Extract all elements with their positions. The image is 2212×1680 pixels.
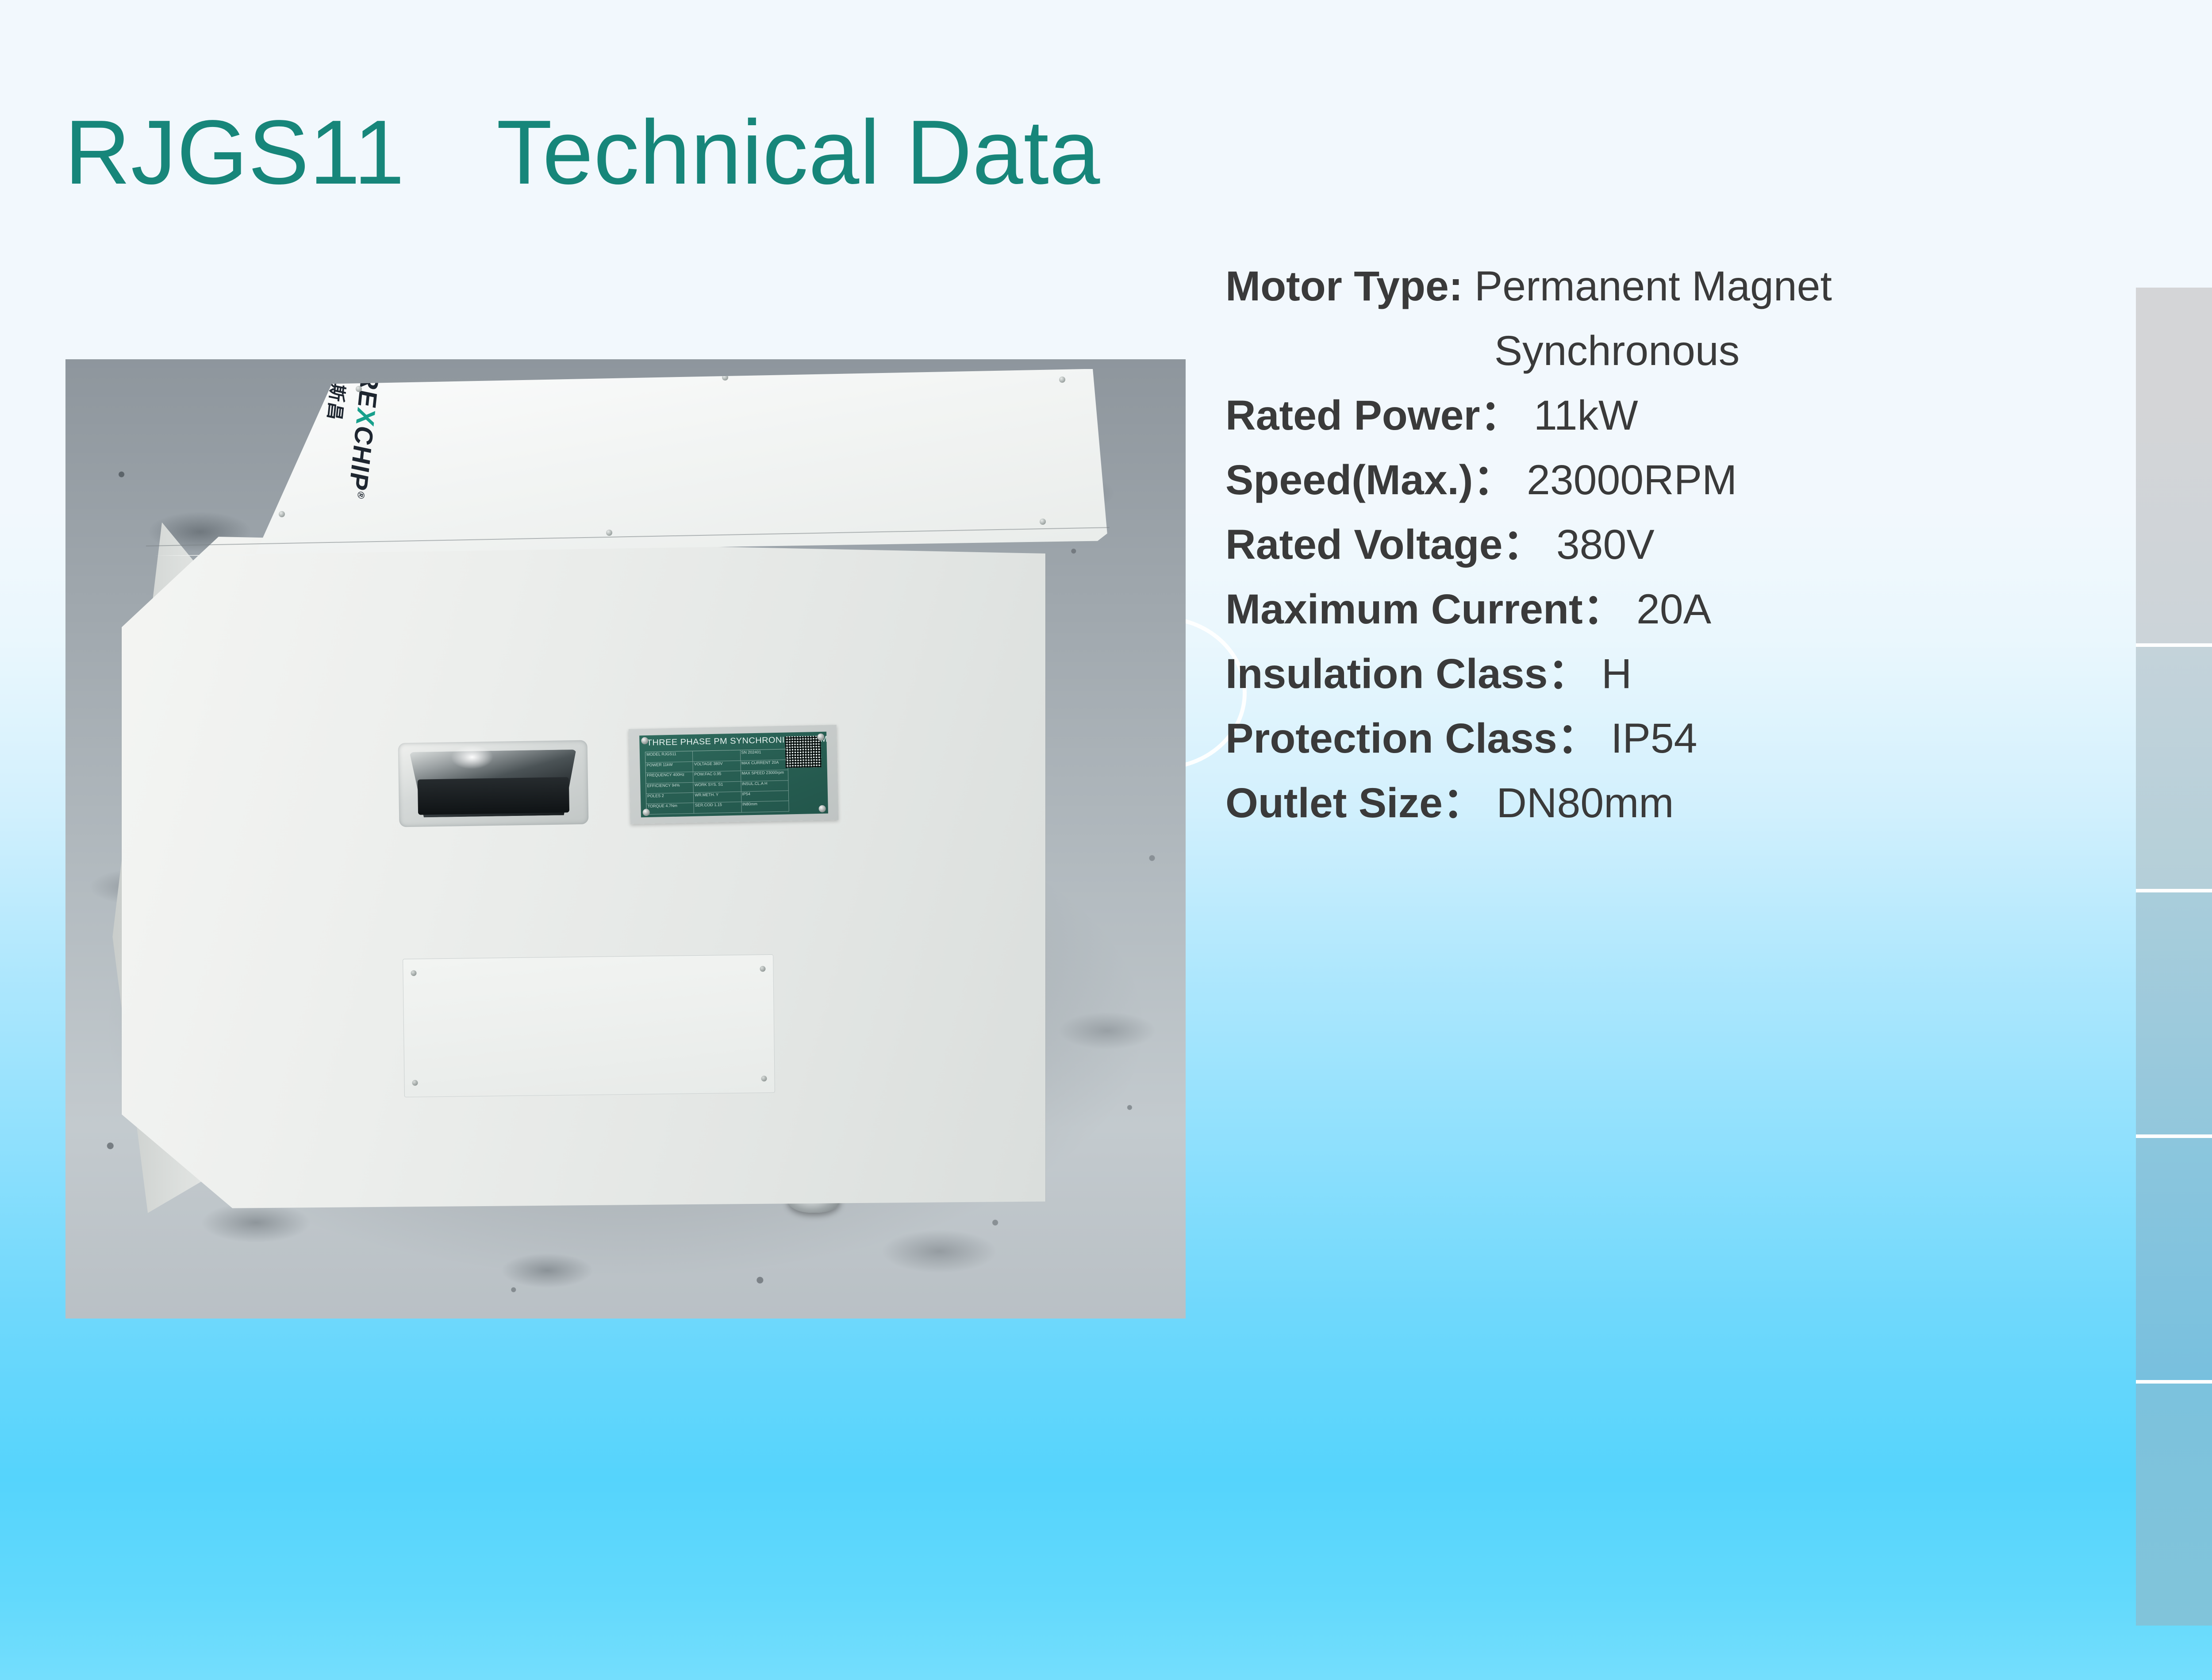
qr-code-icon: [785, 736, 822, 768]
cell-pressure: 30: [2136, 1138, 2212, 1384]
nameplate-cell: MAX SPEED 23000rpm: [741, 770, 789, 781]
handle-recess: [398, 740, 589, 827]
nameplate-cell: IP54: [741, 791, 789, 802]
table-header-row: Pressure （kpa） Airflow （m³/min）: [2136, 288, 2212, 401]
table-row: 20 26: [2136, 647, 2212, 892]
nameplate-cell: MAX CURRENT 20A: [741, 760, 788, 771]
nameplate-face: THREE PHASE PM SYNCHRONIZATION MOTOR MOD…: [639, 731, 828, 817]
spec-value: H: [1601, 650, 1632, 697]
nameplate-cell: WR.METH. Y: [694, 792, 742, 803]
nameplate-cell: TORQUE 4.7Nm: [647, 803, 695, 815]
spec-protection-class: Protection Class： IP54: [1225, 718, 2115, 760]
panel-screw: [761, 1076, 767, 1081]
spec-value: DN80mm: [1496, 780, 1674, 827]
spec-rated-power: Rated Power： 11kW: [1225, 395, 2115, 437]
spec-insulation-class: Insulation Class： H: [1225, 653, 2115, 695]
access-panel: [403, 954, 775, 1097]
product-photo: THREE PHASE PM SYNCHRONIZATION MOTOR MOD…: [65, 359, 1186, 1319]
nameplate-spec-grid: MODEL RJGS11 SN 202401 POWER 11kW VOLTAG…: [645, 749, 789, 815]
nameplate-screw: [641, 737, 648, 744]
panel-screw: [412, 1080, 418, 1086]
nameplate-cell: SN 202401: [741, 749, 788, 761]
spec-value: 20A: [1636, 586, 1711, 633]
panel-screw: [411, 970, 416, 976]
spec-label: Motor Type:: [1225, 263, 1463, 310]
nameplate-cell: POLES 2: [647, 792, 695, 804]
table-row: 25 17.5: [2136, 892, 2212, 1138]
cell-pressure: 35: [2136, 1384, 2212, 1626]
spec-label: Outlet Size：: [1225, 780, 1485, 827]
nameplate-cell: INSUL.CL.A H: [741, 780, 789, 792]
nameplate-cell: SER.COD 1.15: [694, 802, 742, 814]
table-header-pressure: Pressure （kpa）: [2136, 288, 2212, 401]
table-row: 15 32: [2136, 401, 2212, 647]
top-panel-screw: [606, 530, 612, 536]
spec-label: Insulation Class：: [1225, 650, 1590, 697]
panel-screw: [760, 966, 765, 972]
spec-motor-type: Motor Type: Permanent Magnet: [1225, 265, 2115, 308]
nameplate-cell: EFFICIENCY 94%: [646, 782, 694, 794]
handle-slot: [418, 777, 570, 815]
spec-value: Permanent Magnet: [1475, 263, 1832, 310]
page-title: RJGS11 Technical Data: [65, 104, 1100, 200]
top-panel-screw: [1059, 377, 1065, 383]
nameplate-screw: [819, 805, 826, 812]
spec-motor-type-continued: Synchronous: [1225, 330, 2115, 372]
nameplate-cell: POWER 11kW: [646, 761, 694, 773]
spec-label: Speed(Max.)：: [1225, 457, 1515, 504]
motor-nameplate: THREE PHASE PM SYNCHRONIZATION MOTOR MOD…: [629, 725, 838, 824]
cell-pressure: 20: [2136, 647, 2212, 892]
handle-specular-highlight: [451, 745, 493, 769]
nameplate-cell: WORK SYS. S1: [694, 781, 741, 793]
table-header-pressure-unit: （kpa）: [2136, 348, 2212, 375]
performance-table: Pressure （kpa） Airflow （m³/min） 15 32 20…: [2136, 288, 2212, 1626]
nameplate-cell: [693, 750, 741, 761]
nameplate-cell: MODEL RJGS11: [646, 751, 694, 763]
top-panel-screw: [356, 386, 362, 392]
spec-label: Maximum Current：: [1225, 586, 1625, 633]
cell-pressure: 25: [2136, 892, 2212, 1138]
cell-pressure: 15: [2136, 401, 2212, 647]
spec-speed-max: Speed(Max.)： 23000RPM: [1225, 459, 2115, 501]
spec-value: IP54: [1611, 715, 1697, 762]
spec-outlet-size: Outlet Size： DN80mm: [1225, 782, 2115, 824]
top-panel-screw: [279, 511, 285, 517]
specification-list: Motor Type: Permanent Magnet Synchronous…: [1225, 265, 2115, 847]
spec-label: Rated Voltage：: [1225, 521, 1544, 568]
spec-label: Protection Class：: [1225, 715, 1599, 762]
table-row: 35 13: [2136, 1384, 2212, 1626]
table-row: 30 14.5: [2136, 1138, 2212, 1384]
slide-canvas: RJGS11 Technical Data: [0, 0, 2212, 1680]
nameplate-cell: IN80mm: [741, 801, 789, 812]
nameplate-cell: POW.FAC 0.95: [694, 771, 741, 782]
spec-maximum-current: Maximum Current： 20A: [1225, 588, 2115, 630]
brand-logo-chip: CHIP: [343, 423, 378, 493]
spec-value: 23000RPM: [1527, 457, 1737, 504]
spec-value: 380V: [1556, 521, 1655, 568]
machine-front-face: THREE PHASE PM SYNCHRONIZATION MOTOR MOD…: [122, 537, 1046, 1208]
spec-label: Rated Power：: [1225, 392, 1522, 439]
nameplate-cell: FREQUENCY 400Hz: [646, 772, 694, 784]
nameplate-cell: VOLTAGE 380V: [693, 761, 741, 772]
top-panel-screw: [1040, 519, 1046, 525]
spec-rated-voltage: Rated Voltage： 380V: [1225, 524, 2115, 566]
spec-value: 11kW: [1534, 392, 1638, 439]
